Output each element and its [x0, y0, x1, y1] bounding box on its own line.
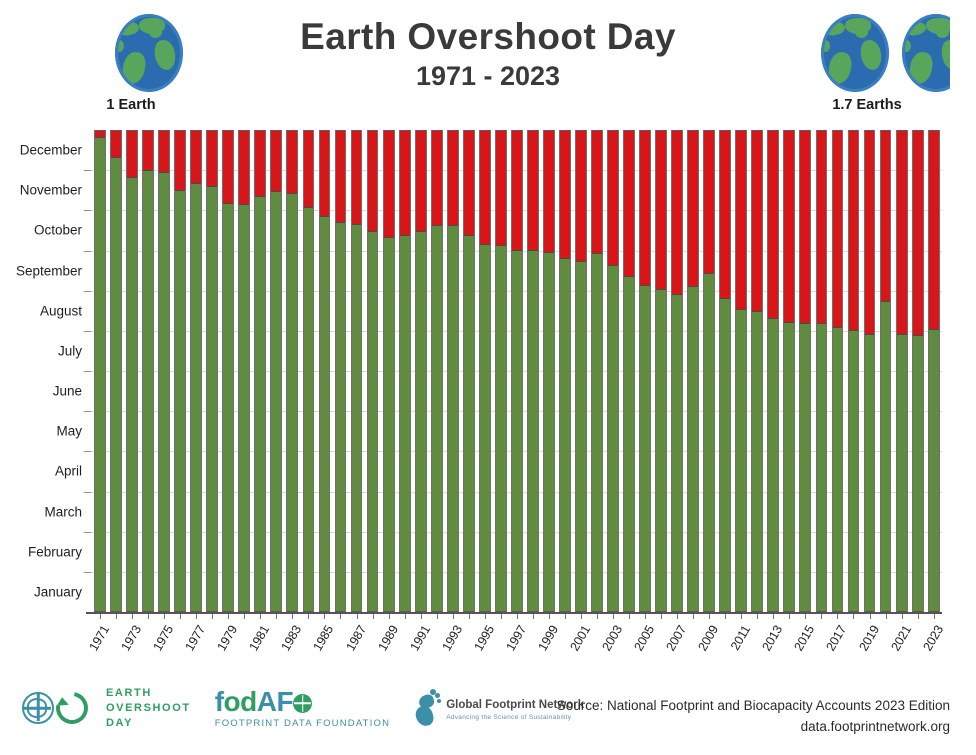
bar-column[interactable]	[557, 130, 573, 612]
bar-column[interactable]	[589, 130, 605, 612]
fodafo-word-part-2: od	[224, 686, 257, 717]
bar-segment-overshoot	[416, 130, 426, 232]
x-axis-tick-group: 1997	[509, 614, 525, 680]
stacked-bar	[94, 130, 106, 612]
stacked-bar	[607, 130, 619, 612]
stacked-bar	[767, 130, 779, 612]
bar-segment-within-biocapacity	[304, 208, 314, 612]
y-axis-tick-label: March	[44, 504, 82, 519]
stacked-bar	[142, 130, 154, 612]
bar-segment-within-biocapacity	[352, 225, 362, 612]
one-earth-indicator: 1 Earth	[96, 14, 202, 113]
bar-segment-overshoot	[656, 130, 666, 290]
bar-column[interactable]	[813, 130, 829, 612]
bar-segment-within-biocapacity	[865, 335, 875, 612]
bar-segment-overshoot	[640, 130, 650, 286]
bar-segment-within-biocapacity	[736, 310, 746, 612]
bar-column[interactable]	[717, 130, 733, 612]
bar-column[interactable]	[477, 130, 493, 612]
x-axis-tick	[517, 614, 518, 619]
bar-segment-overshoot	[271, 130, 281, 192]
bar-segment-overshoot	[127, 130, 137, 178]
stacked-bar	[254, 130, 266, 612]
bar-column[interactable]	[701, 130, 717, 612]
x-axis-tick	[469, 614, 470, 619]
x-axis-tick	[757, 614, 758, 619]
stacked-bar	[687, 130, 699, 612]
bar-segment-within-biocapacity	[592, 254, 602, 612]
x-axis-tick	[902, 614, 903, 619]
x-axis-tick-group: 1991	[413, 614, 429, 680]
y-axis-tick	[84, 331, 91, 332]
x-axis-tick-group: 2017	[829, 614, 845, 680]
stacked-bar	[174, 130, 186, 612]
stacked-bar	[367, 130, 379, 612]
bar-segment-within-biocapacity	[720, 299, 730, 612]
one-earth-label: 1 Earth	[78, 97, 184, 113]
x-axis-tick	[501, 614, 502, 619]
bar-segment-within-biocapacity	[784, 323, 794, 612]
stacked-bar	[864, 130, 876, 612]
bar-column[interactable]	[894, 130, 910, 612]
bar-column[interactable]	[268, 130, 284, 612]
bar-segment-within-biocapacity	[913, 336, 923, 612]
stacked-bar	[286, 130, 298, 612]
stacked-bar	[575, 130, 587, 612]
bar-column[interactable]	[413, 130, 429, 612]
eod-globe-arrow-icon	[22, 687, 100, 729]
bar-segment-overshoot	[752, 130, 762, 312]
bar-segment-within-biocapacity	[656, 290, 666, 612]
bar-segment-overshoot	[336, 130, 346, 223]
bar-segment-overshoot	[432, 130, 442, 226]
bar-segment-within-biocapacity	[159, 173, 169, 612]
bar-segment-overshoot	[191, 130, 201, 184]
x-axis-tick-group: 2009	[701, 614, 717, 680]
bar-segment-within-biocapacity	[929, 330, 939, 612]
stacked-bar	[543, 130, 555, 612]
bar-segment-overshoot	[320, 130, 330, 217]
stacked-bar	[399, 130, 411, 612]
stacked-bar	[479, 130, 491, 612]
bar-column[interactable]	[733, 130, 749, 612]
bar-segment-within-biocapacity	[768, 319, 778, 612]
bar-column[interactable]	[204, 130, 220, 612]
bar-segment-within-biocapacity	[576, 262, 586, 612]
bar-segment-overshoot	[528, 130, 538, 251]
y-axis-tick	[84, 411, 91, 412]
bar-column[interactable]	[541, 130, 557, 612]
bar-segment-within-biocapacity	[544, 253, 554, 612]
stacked-bar	[431, 130, 443, 612]
x-axis-tick	[886, 614, 887, 619]
y-axis-tick-label: June	[53, 384, 82, 399]
bar-segment-overshoot	[159, 130, 169, 173]
bar-column[interactable]	[749, 130, 765, 612]
x-axis-tick-group: 2021	[894, 614, 910, 680]
y-axis-tick	[84, 251, 91, 252]
earths-demand-label: 1.7 Earths	[792, 97, 942, 113]
chart-header: Earth Overshoot Day 1971 - 2023 1 Earth …	[0, 0, 976, 128]
bar-column[interactable]	[92, 130, 108, 612]
x-axis-tick-group: 1989	[381, 614, 397, 680]
x-axis-tick	[645, 614, 646, 619]
y-axis-tick-label: July	[58, 343, 82, 358]
x-axis-tick	[132, 614, 133, 619]
stacked-bar	[671, 130, 683, 612]
source-line-1: Source: National Footprint and Biocapaci…	[557, 696, 950, 717]
bar-series-container	[92, 130, 942, 612]
bar-column[interactable]	[397, 130, 413, 612]
bar-column[interactable]	[316, 130, 332, 612]
y-axis-tick-label: January	[34, 584, 82, 599]
bar-segment-overshoot	[207, 130, 217, 187]
stacked-bar	[270, 130, 282, 612]
bar-column[interactable]	[829, 130, 845, 612]
x-axis-tick	[789, 614, 790, 619]
bar-column[interactable]	[781, 130, 797, 612]
bar-column[interactable]	[797, 130, 813, 612]
stacked-bar	[751, 130, 763, 612]
x-axis-tick	[308, 614, 309, 619]
bar-segment-within-biocapacity	[95, 138, 105, 612]
bar-segment-overshoot	[608, 130, 618, 266]
bar-segment-within-biocapacity	[817, 324, 827, 612]
stacked-bar	[222, 130, 234, 612]
y-axis-tick-label: November	[20, 183, 82, 198]
bar-column[interactable]	[188, 130, 204, 612]
stacked-bar	[158, 130, 170, 612]
bar-segment-overshoot	[111, 130, 121, 158]
x-axis-tick	[244, 614, 245, 619]
x-axis-tick	[164, 614, 165, 619]
bar-column[interactable]	[172, 130, 188, 612]
bar-segment-within-biocapacity	[287, 194, 297, 612]
bar-column[interactable]	[621, 130, 637, 612]
fodafo-wordmark: fodAF	[215, 688, 391, 716]
bar-column[interactable]	[493, 130, 509, 612]
x-axis-tick-group: 1981	[252, 614, 268, 680]
stacked-bar	[799, 130, 811, 612]
eod-line-2: OVERSHOOT	[106, 702, 191, 714]
bar-segment-within-biocapacity	[881, 302, 891, 612]
bar-segment-overshoot	[576, 130, 586, 262]
stacked-bar	[703, 130, 715, 612]
bar-column[interactable]	[637, 130, 653, 612]
bar-segment-overshoot	[480, 130, 490, 245]
x-axis-tick	[228, 614, 229, 619]
x-axis-tick	[565, 614, 566, 619]
bar-column[interactable]	[220, 130, 236, 612]
x-axis-tick	[581, 614, 582, 619]
x-axis-tick-group: 2013	[765, 614, 781, 680]
bar-segment-within-biocapacity	[271, 192, 281, 612]
stacked-bar	[206, 130, 218, 612]
stacked-bar	[511, 130, 523, 612]
x-axis-tick	[292, 614, 293, 619]
x-axis-tick-group: 2007	[669, 614, 685, 680]
eod-wordmark: EARTH OVERSHOOT DAY	[106, 686, 191, 731]
bar-segment-overshoot	[768, 130, 778, 319]
bar-segment-overshoot	[817, 130, 827, 324]
stacked-bar	[447, 130, 459, 612]
x-axis-tick	[549, 614, 550, 619]
y-axis-tick-label: December	[20, 143, 82, 158]
x-axis-tick-group: 1979	[220, 614, 236, 680]
stacked-bar	[383, 130, 395, 612]
x-axis-tick	[870, 614, 871, 619]
bar-segment-overshoot	[672, 130, 682, 295]
globe-icon	[115, 14, 183, 92]
stacked-bar	[655, 130, 667, 612]
x-axis-tick-group: 1999	[541, 614, 557, 680]
bar-segment-overshoot	[368, 130, 378, 232]
bar-column[interactable]	[878, 130, 894, 612]
source-line-2: data.footprintnetwork.org	[557, 717, 950, 738]
bar-segment-within-biocapacity	[624, 277, 634, 612]
x-axis-tick	[725, 614, 726, 619]
x-axis-tick	[357, 614, 358, 619]
stacked-bar	[832, 130, 844, 612]
bar-column[interactable]	[605, 130, 621, 612]
bar-segment-overshoot	[704, 130, 714, 274]
stacked-bar	[912, 130, 924, 612]
bar-segment-overshoot	[512, 130, 522, 251]
bar-segment-within-biocapacity	[384, 238, 394, 612]
bar-segment-within-biocapacity	[320, 217, 330, 612]
x-axis-tick	[821, 614, 822, 619]
bar-segment-overshoot	[865, 130, 875, 335]
bar-segment-within-biocapacity	[512, 251, 522, 612]
y-axis-tick	[84, 291, 91, 292]
stacked-bar	[719, 130, 731, 612]
x-axis-tick	[340, 614, 341, 619]
bar-segment-overshoot	[352, 130, 362, 225]
x-axis-tick	[324, 614, 325, 619]
bar-segment-within-biocapacity	[223, 204, 233, 612]
x-axis-tick	[773, 614, 774, 619]
bar-segment-within-biocapacity	[416, 232, 426, 612]
x-axis-tick	[918, 614, 919, 619]
bar-segment-within-biocapacity	[336, 223, 346, 612]
bar-column[interactable]	[509, 130, 525, 612]
bar-column[interactable]	[332, 130, 348, 612]
x-axis-tick-group: 1985	[316, 614, 332, 680]
y-axis-tick-label: September	[16, 263, 82, 278]
x-axis-tick	[485, 614, 486, 619]
x-axis-tick	[180, 614, 181, 619]
stacked-bar	[735, 130, 747, 612]
x-axis-tick	[533, 614, 534, 619]
bar-segment-within-biocapacity	[688, 287, 698, 612]
bar-column[interactable]	[252, 130, 268, 612]
bar-segment-overshoot	[143, 130, 153, 171]
bar-segment-overshoot	[287, 130, 297, 194]
y-axis-tick-label: May	[56, 424, 82, 439]
bar-column[interactable]	[461, 130, 477, 612]
bar-segment-within-biocapacity	[480, 245, 490, 612]
bar-column[interactable]	[108, 130, 124, 612]
y-axis-tick	[84, 572, 91, 573]
x-axis-tick	[741, 614, 742, 619]
bar-column[interactable]	[156, 130, 172, 612]
partial-globe-icon	[902, 14, 950, 92]
y-axis-tick	[84, 532, 91, 533]
bar-segment-within-biocapacity	[368, 232, 378, 612]
bar-segment-overshoot	[223, 130, 233, 204]
chart-plot-area: JanuaryFebruaryMarchAprilMayJuneJulyAugu…	[0, 130, 976, 680]
bar-segment-overshoot	[784, 130, 794, 323]
earth-overshoot-day-logo[interactable]: EARTH OVERSHOOT DAY	[22, 686, 191, 731]
stacked-bar	[351, 130, 363, 612]
bar-column[interactable]	[669, 130, 685, 612]
bar-column[interactable]	[124, 130, 140, 612]
bar-segment-overshoot	[400, 130, 410, 236]
stacked-bar	[463, 130, 475, 612]
bar-segment-within-biocapacity	[704, 274, 714, 612]
stacked-bar	[303, 130, 315, 612]
x-axis-tick	[453, 614, 454, 619]
bar-column[interactable]	[300, 130, 316, 612]
y-axis-tick-label: August	[40, 303, 82, 318]
stacked-bar	[527, 130, 539, 612]
bar-column[interactable]	[349, 130, 365, 612]
x-axis-tick-group: 2005	[637, 614, 653, 680]
bar-segment-within-biocapacity	[400, 236, 410, 612]
bar-segment-overshoot	[496, 130, 506, 246]
bar-segment-overshoot	[897, 130, 907, 335]
bar-column[interactable]	[910, 130, 926, 612]
y-axis-tick	[84, 371, 91, 372]
fodafo-word-part-3: AF	[257, 686, 293, 717]
stacked-bar	[415, 130, 427, 612]
eod-line-3: DAY	[106, 717, 133, 729]
x-axis-tick	[116, 614, 117, 619]
source-attribution: Source: National Footprint and Biocapaci…	[557, 696, 950, 738]
bar-column[interactable]	[365, 130, 381, 612]
stacked-bar	[880, 130, 892, 612]
bar-segment-within-biocapacity	[560, 259, 570, 612]
x-axis-tick-group: 2015	[797, 614, 813, 680]
bar-segment-overshoot	[881, 130, 891, 302]
bar-segment-within-biocapacity	[897, 335, 907, 612]
x-axis-tick-group: 1987	[349, 614, 365, 680]
bar-segment-overshoot	[544, 130, 554, 253]
bar-column[interactable]	[284, 130, 300, 612]
bar-segment-overshoot	[448, 130, 458, 226]
y-axis-tick-label: April	[55, 464, 82, 479]
bar-segment-within-biocapacity	[608, 266, 618, 612]
stacked-bar	[335, 130, 347, 612]
x-axis-tick-group: 1983	[284, 614, 300, 680]
stacked-bar	[896, 130, 908, 612]
bar-segment-within-biocapacity	[528, 251, 538, 612]
bar-segment-within-biocapacity	[496, 246, 506, 612]
fodafo-logo[interactable]: fodAF FOOTPRINT DATA FOUNDATION	[215, 688, 391, 729]
bar-column[interactable]	[653, 130, 669, 612]
x-axis-tick	[661, 614, 662, 619]
x-axis-tick	[677, 614, 678, 619]
stacked-bar	[639, 130, 651, 612]
x-axis-tick	[613, 614, 614, 619]
bar-segment-overshoot	[849, 130, 859, 331]
bar-segment-overshoot	[384, 130, 394, 238]
x-axis-tick-group: 2003	[605, 614, 621, 680]
bar-segment-overshoot	[239, 130, 249, 205]
x-axis-tick	[709, 614, 710, 619]
stacked-bar	[190, 130, 202, 612]
stacked-bar	[816, 130, 828, 612]
bar-segment-within-biocapacity	[800, 324, 810, 612]
bar-segment-overshoot	[95, 130, 105, 138]
x-axis-tick-group: 2019	[862, 614, 878, 680]
x-axis-tick	[260, 614, 261, 619]
x-axis-tick	[389, 614, 390, 619]
x-axis-tick	[100, 614, 101, 619]
x-axis-tick	[629, 614, 630, 619]
stacked-bar	[126, 130, 138, 612]
bar-segment-within-biocapacity	[239, 205, 249, 612]
bar-column[interactable]	[926, 130, 942, 612]
bar-segment-within-biocapacity	[127, 178, 137, 612]
bar-segment-overshoot	[592, 130, 602, 254]
bar-column[interactable]	[685, 130, 701, 612]
fodafo-tagline: FOOTPRINT DATA FOUNDATION	[215, 718, 391, 729]
x-axis-tick	[837, 614, 838, 619]
x-axis-tick	[693, 614, 694, 619]
x-axis-tick-group: 1993	[445, 614, 461, 680]
bar-column[interactable]	[845, 130, 861, 612]
bar-column[interactable]	[429, 130, 445, 612]
x-axis-tick	[437, 614, 438, 619]
bar-column[interactable]	[236, 130, 252, 612]
bar-segment-within-biocapacity	[849, 331, 859, 612]
bar-segment-overshoot	[929, 130, 939, 330]
chart-footer: EARTH OVERSHOOT DAY fodAF FOOTPRINT DATA…	[0, 680, 976, 755]
x-axis-tick-group: 2023	[926, 614, 942, 680]
bar-segment-overshoot	[175, 130, 185, 191]
bar-column[interactable]	[140, 130, 156, 612]
bar-column[interactable]	[765, 130, 781, 612]
globe-icon	[821, 14, 889, 92]
x-axis-tick	[196, 614, 197, 619]
bar-column[interactable]	[445, 130, 461, 612]
bar-segment-overshoot	[720, 130, 730, 299]
bar-segment-within-biocapacity	[207, 187, 217, 612]
stacked-bar	[623, 130, 635, 612]
bar-column[interactable]	[573, 130, 589, 612]
x-axis: 1971197319751977197919811983198519871989…	[92, 614, 942, 680]
x-axis-tick	[421, 614, 422, 619]
x-axis-tick	[405, 614, 406, 619]
fodafo-word-part-1: f	[215, 686, 224, 717]
x-axis-tick	[597, 614, 598, 619]
bar-column[interactable]	[862, 130, 878, 612]
x-axis-tick-group: 1975	[156, 614, 172, 680]
stacked-bar	[238, 130, 250, 612]
bar-column[interactable]	[381, 130, 397, 612]
x-axis-tick	[276, 614, 277, 619]
bar-segment-within-biocapacity	[432, 226, 442, 612]
y-axis-tick-label: October	[34, 223, 82, 238]
x-axis-tick	[805, 614, 806, 619]
x-axis-tick	[934, 614, 935, 619]
y-axis-tick	[84, 170, 91, 171]
bar-column[interactable]	[525, 130, 541, 612]
x-axis-tick	[212, 614, 213, 619]
eod-line-1: EARTH	[106, 687, 152, 699]
y-axis-tick	[84, 451, 91, 452]
